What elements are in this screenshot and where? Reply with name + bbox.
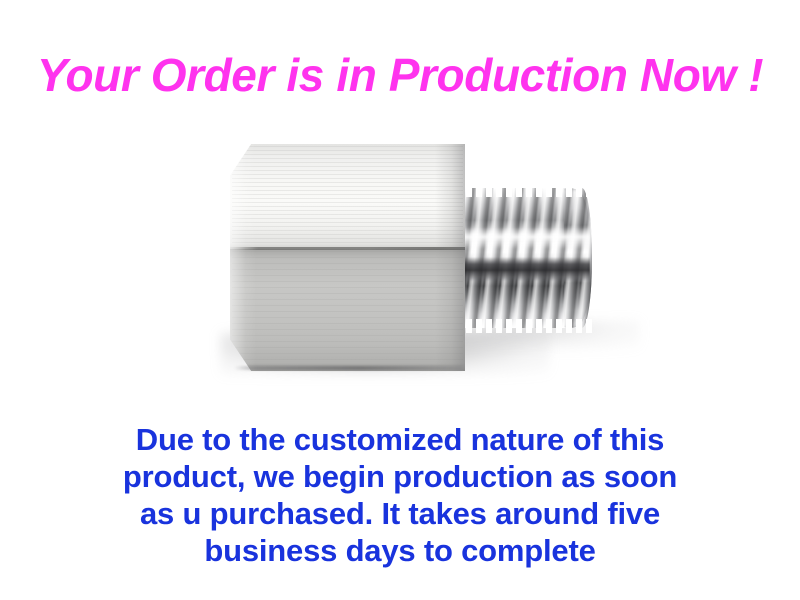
hex-bottom-machining-lines	[232, 251, 463, 367]
hex-chamfer-highlight	[230, 144, 256, 371]
hex-bottom-edge-line	[234, 366, 462, 370]
male-threaded-nipple	[446, 183, 596, 333]
product-photo	[150, 120, 650, 410]
thread-crest-top	[446, 183, 596, 197]
hex-flat-edge	[230, 247, 465, 250]
hex-body	[230, 144, 465, 371]
hex-top-machining-lines	[232, 146, 463, 246]
body-copy-line-3: as u purchased. It takes around five	[0, 495, 800, 532]
headline-text: Your Order is in Production Now !	[0, 48, 800, 102]
thread-specular-highlight	[448, 227, 590, 249]
body-copy-line-2: product, we begin production as soon	[0, 458, 800, 495]
thread-crest-bottom	[446, 319, 596, 333]
body-copy: Due to the customized nature of this pro…	[0, 421, 800, 569]
body-copy-line-1: Due to the customized nature of this	[0, 421, 800, 458]
promo-banner: Your Order is in Production Now ! Due to…	[0, 0, 800, 600]
hex-right-shading	[435, 144, 465, 371]
thread-root-shadow	[448, 257, 590, 281]
body-copy-line-4: business days to complete	[0, 532, 800, 569]
